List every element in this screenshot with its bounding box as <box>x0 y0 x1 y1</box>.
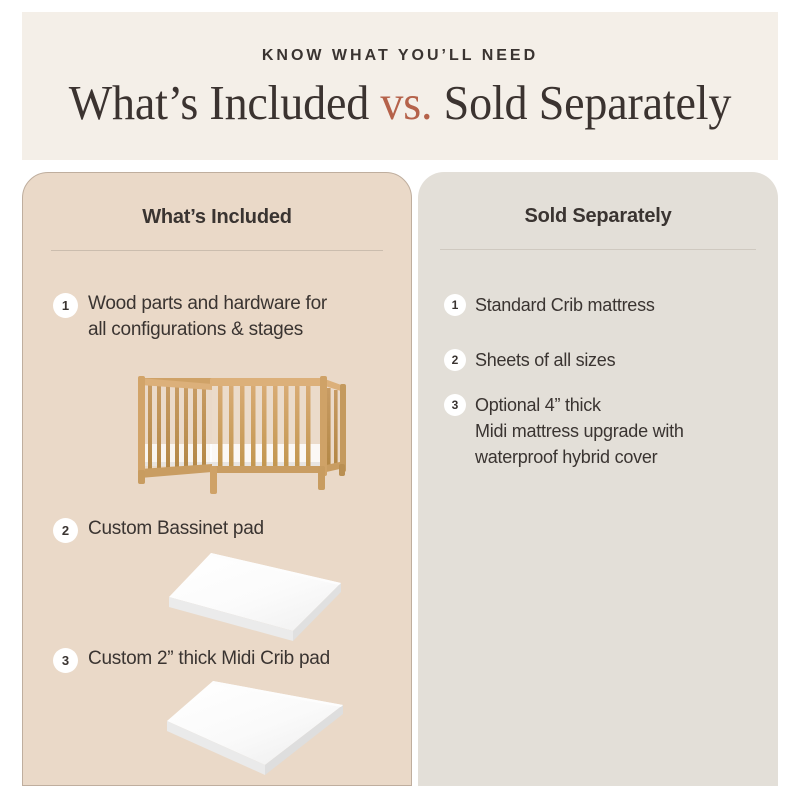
list-item: 2 Sheets of all sizes <box>444 347 764 373</box>
card-included-title: What’s Included <box>23 206 411 229</box>
headline-part-one: What’s Included <box>69 75 381 130</box>
list-item: 3 Custom 2” thick Midi Crib pad <box>53 646 409 673</box>
item-number-badge: 2 <box>53 518 78 543</box>
item-label: Custom 2” thick Midi Crib pad <box>88 646 330 672</box>
crib-image <box>118 366 348 501</box>
headline-part-two: Sold Separately <box>432 75 731 130</box>
card-whats-included: What’s Included 1 Wood parts and hardwar… <box>22 172 412 786</box>
item-label: Wood parts and hardware for all configur… <box>88 291 327 343</box>
card-separate-title: Sold Separately <box>418 205 778 228</box>
list-item: 1 Wood parts and hardware for all config… <box>53 291 403 343</box>
header-band: KNOW WHAT YOU’LL NEED What’s Included vs… <box>22 12 778 160</box>
midi-crib-pad-image <box>153 675 353 785</box>
item-number-badge: 1 <box>53 293 78 318</box>
infographic-page: KNOW WHAT YOU’LL NEED What’s Included vs… <box>0 0 800 800</box>
card-sold-separately: Sold Separately 1 Standard Crib mattress… <box>418 172 778 786</box>
item-label: Optional 4” thick Midi mattress upgrade … <box>475 392 684 470</box>
eyebrow-text: KNOW WHAT YOU’LL NEED <box>22 47 778 65</box>
bassinet-pad-image <box>153 545 353 650</box>
headline-vs: vs. <box>380 75 432 130</box>
item-number-badge: 3 <box>444 394 466 416</box>
comparison-cards: What’s Included 1 Wood parts and hardwar… <box>22 160 778 788</box>
list-item: 1 Standard Crib mattress <box>444 292 764 318</box>
item-number-badge: 1 <box>444 294 466 316</box>
card-included-divider <box>51 250 383 251</box>
item-label: Sheets of all sizes <box>475 347 615 373</box>
list-item: 3 Optional 4” thick Midi mattress upgrad… <box>444 392 774 470</box>
item-label: Standard Crib mattress <box>475 292 655 318</box>
list-item: 2 Custom Bassinet pad <box>53 516 403 543</box>
item-number-badge: 3 <box>53 648 78 673</box>
item-number-badge: 2 <box>444 349 466 371</box>
item-label: Custom Bassinet pad <box>88 516 264 542</box>
card-separate-divider <box>440 249 756 250</box>
page-title: What’s Included vs. Sold Separately <box>45 74 756 131</box>
